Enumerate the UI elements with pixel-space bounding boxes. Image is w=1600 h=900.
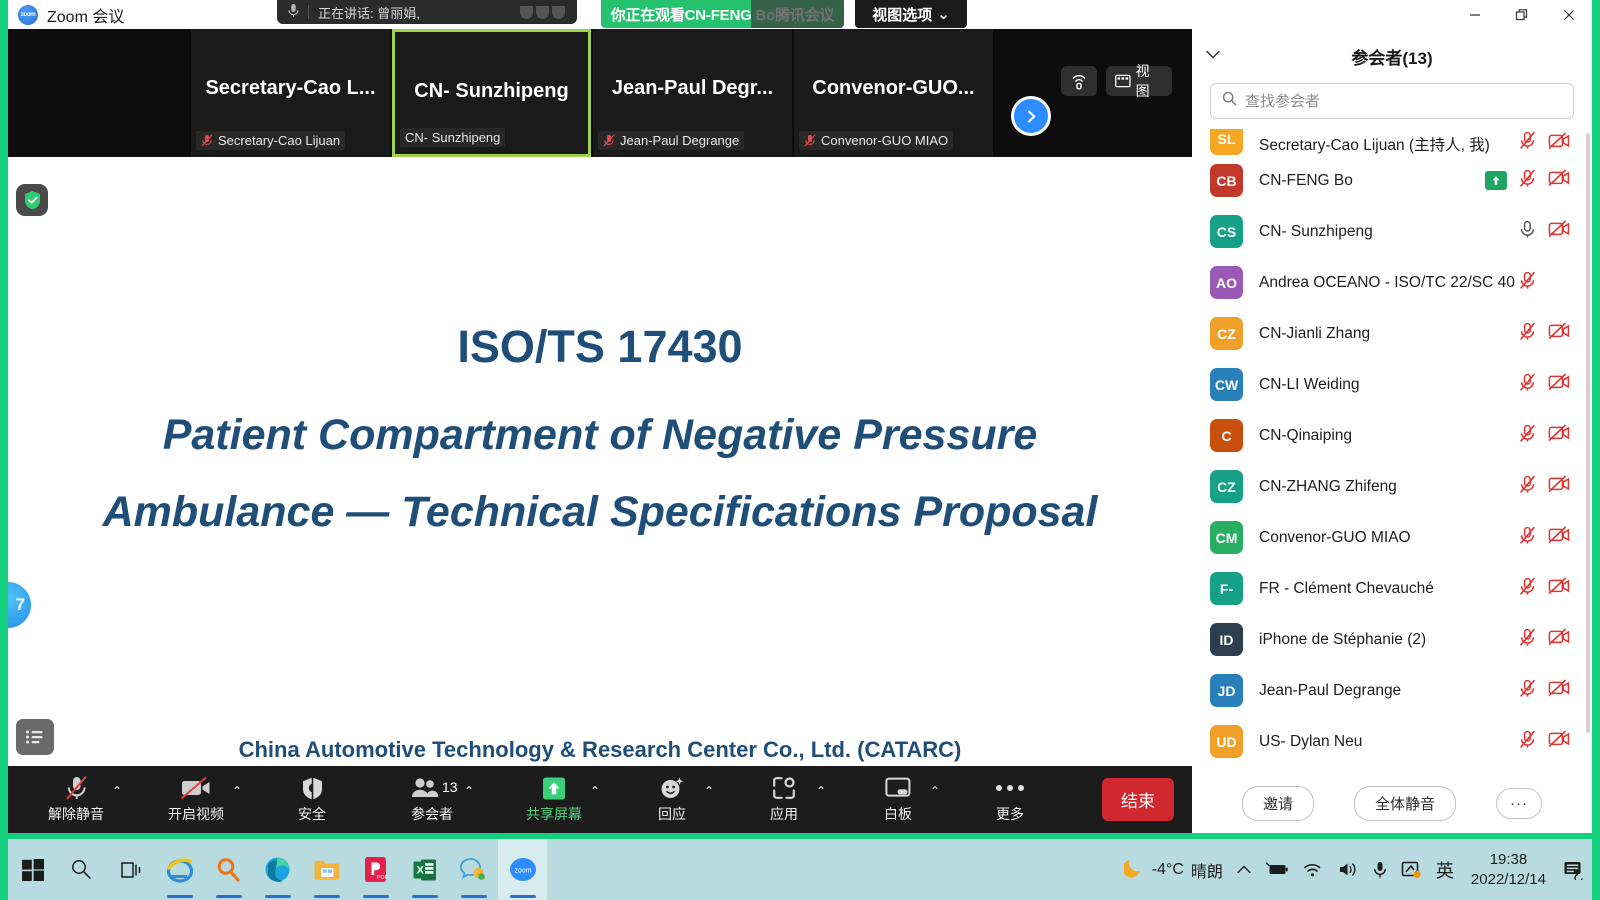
raise-hand-badge[interactable]	[1485, 171, 1507, 190]
whiteboard-button[interactable]: 白板 ⌃	[870, 766, 926, 833]
participant-name: CN-ZHANG Zhifeng	[1259, 478, 1518, 496]
reactions-label: 回应	[658, 804, 686, 824]
share-options-caret[interactable]: ⌃	[590, 784, 600, 798]
video-thumbnail[interactable]: Convenor-GUO... Convenor-GUO MIAO	[794, 29, 993, 157]
windows-taskbar: PDF X zoom	[8, 839, 1592, 900]
system-tray: -4°C 晴朗	[1117, 839, 1592, 900]
participants-count: 13	[442, 779, 458, 795]
window-title: Zoom 会议	[47, 3, 124, 27]
security-label: 安全	[298, 804, 326, 824]
wifi-icon[interactable]	[1296, 839, 1331, 900]
slide-organization: China Automotive Technology & Research C…	[8, 737, 1192, 763]
view-options-button[interactable]: 视图选项 ⌄	[855, 0, 967, 28]
clock-date: 2022/12/14	[1471, 870, 1546, 890]
notification-icon[interactable]	[1556, 839, 1592, 900]
mic-muted-icon[interactable]	[1518, 322, 1537, 346]
participant-row[interactable]: CBCN-FENG Bo	[1192, 155, 1592, 206]
unmute-button[interactable]: 解除静音 ⌃	[44, 766, 108, 833]
share-screen-button[interactable]: 共享屏幕 ⌃	[522, 766, 586, 833]
mic-muted-icon	[804, 134, 816, 147]
active-speaker-bar: 正在讲话: 曾丽娟,	[277, 0, 577, 24]
participant-name: CN- Sunzhipeng	[1259, 223, 1518, 241]
apps-options-caret[interactable]: ⌃	[816, 784, 826, 798]
video-off-icon[interactable]	[1548, 322, 1570, 345]
presentation-slide: ISO/TS 17430 Patient Compartment of Nega…	[8, 157, 1192, 766]
thumbnail-display-name: Convenor-GUO...	[794, 77, 993, 100]
restore-button[interactable]	[1498, 0, 1545, 29]
view-options-label: 视图选项	[872, 4, 932, 25]
video-off-icon[interactable]	[1548, 628, 1570, 651]
microsoft-edge-icon[interactable]	[253, 839, 302, 900]
task-view-icon[interactable]	[106, 839, 155, 900]
volume-icon[interactable]	[1331, 839, 1366, 900]
remote-control-icon	[1071, 73, 1087, 90]
participant-row[interactable]: CCN-Qinaiping	[1192, 410, 1592, 461]
avatar: CZ	[1210, 470, 1243, 503]
participant-row[interactable]: CZCN-ZHANG Zhifeng	[1192, 461, 1592, 512]
mic-muted-icon[interactable]	[1518, 169, 1537, 193]
participants-scrollbar[interactable]	[1586, 133, 1590, 733]
weather-temperature: -4°C	[1152, 861, 1184, 879]
participant-status-icons	[1518, 131, 1570, 155]
apps-button[interactable]: 应用 ⌃	[756, 766, 812, 833]
start-video-button[interactable]: 开启视频 ⌃	[164, 766, 228, 833]
ime-language-indicator[interactable]: 英	[1429, 839, 1461, 900]
participant-name: Andrea OCEANO - ISO/TC 22/SC 40	[1259, 274, 1518, 292]
orb-number: 7	[16, 595, 25, 615]
participant-row[interactable]: IDiPhone de Stéphanie (2)	[1192, 614, 1592, 665]
view-layout-button[interactable]: 视图	[1106, 66, 1172, 96]
invite-button[interactable]: 邀请	[1242, 786, 1314, 821]
avatar: CB	[1210, 164, 1243, 197]
thumbnail-name-chip: Jean-Paul Degrange	[598, 131, 744, 150]
participant-status-icons	[1518, 220, 1570, 244]
svg-text:PDF: PDF	[377, 875, 388, 881]
weather-condition: 晴朗	[1191, 858, 1223, 882]
grid-view-icon	[1115, 74, 1131, 88]
video-thumbnail-active[interactable]: CN- Sunzhipeng CN- Sunzhipeng	[392, 29, 591, 157]
more-dots-icon	[995, 775, 1025, 801]
unmute-label: 解除静音	[48, 804, 104, 824]
participant-status-icons	[1518, 475, 1570, 499]
participant-status-icons	[1485, 169, 1570, 193]
battery-icon[interactable]	[1258, 839, 1296, 900]
close-button[interactable]	[1545, 0, 1592, 29]
taskbar-clock[interactable]: 19:38 2022/12/14	[1461, 850, 1556, 890]
video-off-icon[interactable]	[1548, 424, 1570, 447]
audio-wave-icon	[520, 6, 565, 19]
participant-name: Secretary-Cao Lijuan (主持人, 我)	[1259, 133, 1518, 155]
video-off-icon	[180, 775, 212, 801]
shield-check-icon	[23, 190, 42, 210]
thumbnail-name-chip: Secretary-Cao Lijuan	[196, 131, 345, 150]
shared-content-stage: Secretary-Cao L... Secretary-Cao Lijuan …	[8, 29, 1192, 766]
participant-status-icons	[1518, 322, 1570, 346]
video-off-icon[interactable]	[1548, 132, 1570, 155]
whiteboard-label: 白板	[884, 804, 912, 824]
thumbnail-name: CN- Sunzhipeng	[405, 130, 500, 145]
participant-row[interactable]: F-FR - Clément Chevauché	[1192, 563, 1592, 614]
participant-row[interactable]: CSCN- Sunzhipeng	[1192, 206, 1592, 257]
video-off-icon[interactable]	[1548, 679, 1570, 702]
weather-widget[interactable]: -4°C 晴朗	[1117, 839, 1230, 900]
mic-muted-icon	[64, 775, 89, 801]
avatar: JD	[1210, 674, 1243, 707]
remote-control-button[interactable]	[1061, 66, 1097, 96]
share-screen-label: 共享屏幕	[526, 804, 582, 824]
participant-status-icons	[1518, 526, 1570, 550]
participant-status-icons	[1518, 424, 1570, 448]
participants-panel-title: 参会者(13)	[1351, 44, 1432, 69]
participants-panel-header: 参会者(13)	[1192, 29, 1592, 83]
thumbnail-name: Jean-Paul Degrange	[620, 133, 739, 148]
share-screen-icon	[541, 775, 567, 801]
mic-muted-icon[interactable]	[1518, 373, 1537, 397]
participant-name: US- Dylan Neu	[1259, 733, 1518, 751]
filmstrip-next-button[interactable]	[1011, 96, 1051, 136]
apps-icon	[772, 775, 796, 801]
participant-row[interactable]: CZCN-Jianli Zhang	[1192, 308, 1592, 359]
apps-label: 应用	[770, 804, 798, 824]
participant-row[interactable]: SLSecretary-Cao Lijuan (主持人, 我)	[1192, 129, 1592, 155]
participant-row[interactable]: AOAndrea OCEANO - ISO/TC 22/SC 40	[1192, 257, 1592, 308]
chevron-down-icon[interactable]	[1206, 47, 1220, 62]
thumbnail-display-name: CN- Sunzhipeng	[395, 80, 588, 103]
mic-on-icon[interactable]	[1518, 220, 1537, 244]
mic-muted-icon[interactable]	[1518, 271, 1537, 295]
mute-all-button[interactable]: 全体静音	[1354, 786, 1456, 821]
avatar: AO	[1210, 266, 1243, 299]
mic-muted-icon	[201, 134, 213, 147]
whiteboard-icon	[885, 775, 911, 801]
participant-name: CN-FENG Bo	[1259, 172, 1485, 190]
avatar: UD	[1210, 725, 1243, 758]
thumbnail-display-name: Secretary-Cao L...	[191, 77, 390, 100]
avatar: CM	[1210, 521, 1243, 554]
avatar: CW	[1210, 368, 1243, 401]
mic-muted-icon[interactable]	[1518, 577, 1537, 601]
participant-name: Jean-Paul Degrange	[1259, 682, 1518, 700]
participant-row[interactable]: JDJean-Paul Degrange	[1192, 665, 1592, 716]
zoom-control-bar: 解除静音 ⌃ 开启视频 ⌃ 安全	[8, 766, 1192, 833]
more-label: 更多	[996, 804, 1024, 824]
slide-title: ISO/TS 17430	[8, 321, 1192, 373]
video-thumbnail[interactable]: Secretary-Cao L... Secretary-Cao Lijuan	[191, 29, 390, 157]
moon-icon	[1124, 857, 1145, 883]
speaker-name-text: 正在讲话: 曾丽娟,	[318, 3, 420, 22]
mic-muted-icon[interactable]	[1518, 475, 1537, 499]
participant-name: CN-Qinaiping	[1259, 427, 1518, 445]
participant-status-icons	[1518, 271, 1570, 295]
svg-text:zoom: zoom	[514, 868, 531, 875]
participant-name: CN-Jianli Zhang	[1259, 325, 1518, 343]
mic-muted-icon[interactable]	[1518, 526, 1537, 550]
participant-status-icons	[1518, 628, 1570, 652]
mic-options-caret[interactable]: ⌃	[112, 784, 122, 798]
video-off-icon[interactable]	[1548, 169, 1570, 192]
wechat-icon[interactable]	[449, 839, 498, 900]
thumbnail-name-chip: Convenor-GUO MIAO	[799, 131, 953, 150]
internet-explorer-icon[interactable]	[155, 839, 204, 900]
zoom-icon[interactable]: zoom	[498, 839, 547, 900]
minimize-button[interactable]	[1451, 0, 1498, 29]
list-lines-icon	[25, 729, 45, 745]
reactions-icon	[659, 775, 685, 801]
search-icon[interactable]	[57, 839, 106, 900]
reactions-options-caret[interactable]: ⌃	[704, 784, 714, 798]
video-off-icon[interactable]	[1548, 220, 1570, 243]
start-button[interactable]	[8, 839, 57, 900]
video-thumbnail-strip: Secretary-Cao L... Secretary-Cao Lijuan …	[191, 29, 995, 157]
participant-status-icons	[1518, 577, 1570, 601]
onedrive-icon[interactable]	[1394, 839, 1429, 900]
mic-muted-icon[interactable]	[1518, 424, 1537, 448]
video-options-caret[interactable]: ⌃	[232, 784, 242, 798]
avatar: C	[1210, 419, 1243, 452]
microphone-icon	[287, 3, 300, 21]
annotation-toggle-button[interactable]	[16, 719, 54, 755]
thumbnail-name-chip: CN- Sunzhipeng	[400, 128, 505, 147]
participants-panel: 参会者(13) SLSecretary-Cao Lijuan (主持人, 我)C…	[1192, 29, 1592, 833]
participant-row[interactable]: CWCN-LI Weiding	[1192, 359, 1592, 410]
participants-more-button[interactable]: ···	[1496, 788, 1542, 819]
search-icon	[1222, 91, 1237, 111]
participant-row[interactable]: UDUS- Dylan Neu	[1192, 716, 1592, 767]
mic-muted-icon	[603, 134, 615, 147]
mic-muted-icon[interactable]	[1518, 730, 1537, 754]
participant-name: FR - Clément Chevauché	[1259, 580, 1518, 598]
zoom-logo-icon: zoom	[18, 5, 38, 25]
chevron-down-icon: ⌄	[937, 5, 950, 23]
security-badge[interactable]	[16, 184, 48, 216]
video-off-icon[interactable]	[1548, 730, 1570, 753]
video-off-icon[interactable]	[1548, 526, 1570, 549]
video-off-icon[interactable]	[1548, 373, 1570, 396]
participant-search-box[interactable]	[1210, 83, 1574, 119]
mic-muted-icon[interactable]	[1518, 131, 1537, 155]
avatar: CS	[1210, 215, 1243, 248]
video-thumbnail[interactable]: Jean-Paul Degr... Jean-Paul Degrange	[593, 29, 792, 157]
participant-name: CN-LI Weiding	[1259, 376, 1518, 394]
participants-panel-footer: 邀请 全体静音 ···	[1192, 773, 1592, 833]
excel-icon[interactable]: X	[400, 839, 449, 900]
reactions-button[interactable]: 回应 ⌃	[644, 766, 700, 833]
participants-label: 参会者	[411, 804, 453, 824]
shield-icon	[301, 775, 324, 801]
sharing-status-pill: 你正在观看CN-FENG Bo腾讯会议	[601, 0, 844, 28]
slide-subtitle: Patient Compartment of Negative Pressure…	[68, 397, 1132, 551]
participants-options-caret[interactable]: ⌃	[464, 784, 474, 798]
everything-search-icon[interactable]	[204, 839, 253, 900]
avatar: F-	[1210, 572, 1243, 605]
participant-name: Convenor-GUO MIAO	[1259, 529, 1518, 547]
thumbnail-name: Convenor-GUO MIAO	[821, 133, 948, 148]
video-off-icon[interactable]	[1548, 475, 1570, 498]
overlapping-window-shadow	[751, 0, 844, 28]
clock-time: 19:38	[1471, 850, 1546, 870]
end-meeting-button[interactable]: 结束	[1102, 778, 1174, 821]
participant-name: iPhone de Stéphanie (2)	[1259, 631, 1518, 649]
participants-button[interactable]: 13 参会者 ⌃	[404, 766, 460, 833]
participant-row[interactable]: CMConvenor-GUO MIAO	[1192, 512, 1592, 563]
microphone-icon[interactable]	[1366, 839, 1394, 900]
avatar: CZ	[1210, 317, 1243, 350]
view-button-label: 视图	[1136, 61, 1163, 101]
start-video-label: 开启视频	[168, 804, 224, 824]
pdf-reader-icon[interactable]: PDF	[351, 839, 400, 900]
mic-muted-icon[interactable]	[1518, 679, 1537, 703]
search-input[interactable]	[1245, 93, 1562, 110]
participant-status-icons	[1518, 373, 1570, 397]
whiteboard-options-caret[interactable]: ⌃	[930, 784, 940, 798]
avatar: ID	[1210, 623, 1243, 656]
participant-status-icons	[1518, 730, 1570, 754]
more-button[interactable]: 更多	[982, 766, 1038, 833]
avatar: SL	[1210, 129, 1243, 155]
tray-expand-button[interactable]	[1230, 839, 1258, 900]
mic-muted-icon[interactable]	[1518, 628, 1537, 652]
video-off-icon[interactable]	[1548, 577, 1570, 600]
file-explorer-icon[interactable]	[302, 839, 351, 900]
participants-list[interactable]: SLSecretary-Cao Lijuan (主持人, 我)CBCN-FENG…	[1192, 127, 1592, 773]
thumbnail-display-name: Jean-Paul Degr...	[593, 77, 792, 100]
participant-status-icons	[1518, 679, 1570, 703]
security-button[interactable]: 安全	[284, 766, 340, 833]
svg-text:X: X	[416, 864, 424, 876]
thumbnail-name: Secretary-Cao Lijuan	[218, 133, 340, 148]
